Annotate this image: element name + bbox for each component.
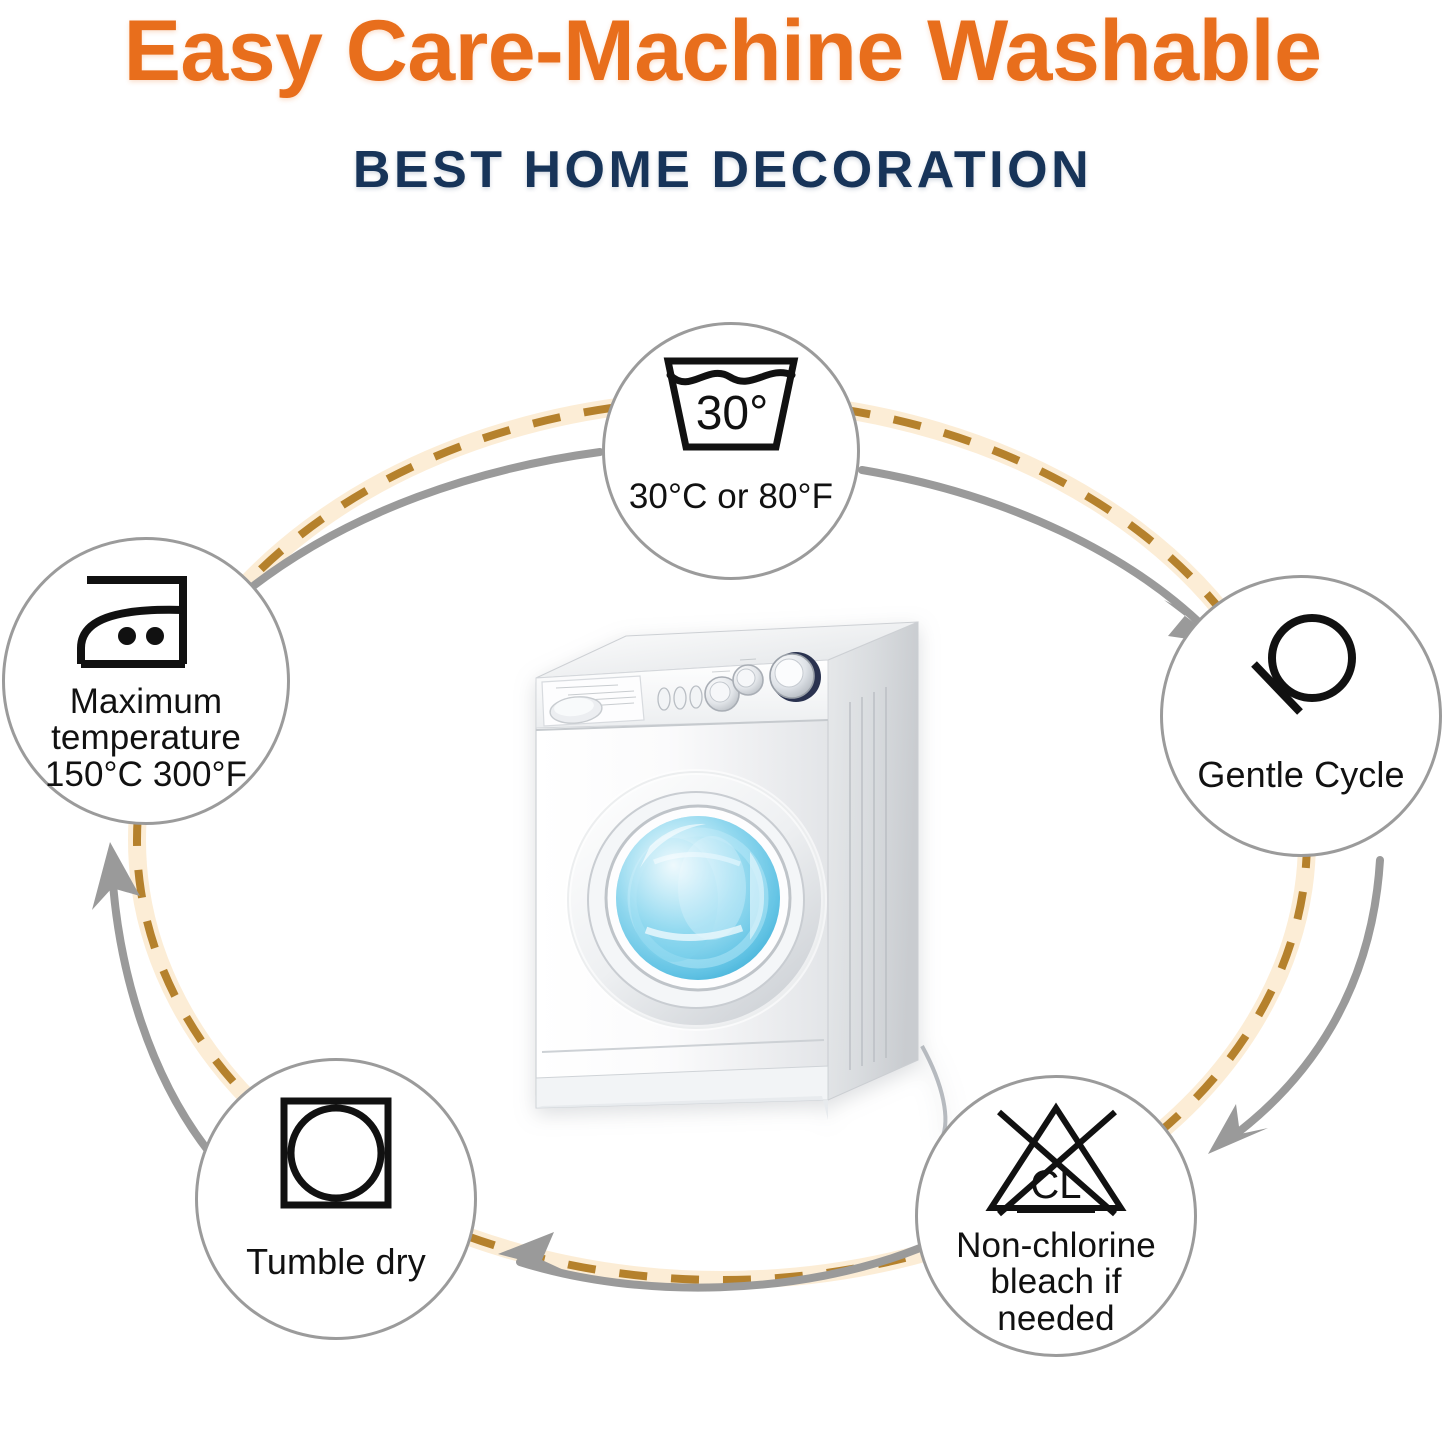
program-buttons [658, 686, 702, 710]
care-badge-bleach-label: Non-chlorine bleach if needed [956, 1228, 1156, 1337]
wash-tub-30-icon: 30° [656, 351, 806, 463]
detergent-drawer [542, 676, 644, 726]
wash-temp-value: 30° [696, 387, 769, 440]
care-badge-gentle[interactable]: Gentle Cycle [1160, 575, 1442, 857]
care-badge-tumble-label: Tumble dry [246, 1243, 426, 1280]
no-chlorine-bleach-icon: CL [981, 1098, 1131, 1224]
iron-two-dots-icon [71, 570, 221, 674]
tumble-dry-icon [276, 1093, 396, 1213]
washing-machine-illustration [498, 600, 968, 1140]
care-badge-tumble[interactable]: Tumble dry [195, 1058, 477, 1340]
product-infographic: Easy Care-Machine Washable BEST HOME DEC… [0, 0, 1445, 1445]
care-badge-iron-label: Maximum temperature 150°C 300°F [45, 684, 247, 793]
care-badge-wash-label: 30°C or 80°F [629, 479, 833, 515]
care-badge-iron[interactable]: Maximum temperature 150°C 300°F [2, 537, 290, 825]
bleach-cl-text: CL [1030, 1163, 1081, 1207]
care-badge-gentle-label: Gentle Cycle [1197, 756, 1404, 793]
care-badge-wash[interactable]: 30° 30°C or 80°F [602, 322, 860, 580]
gentle-cycle-icon [1236, 608, 1366, 730]
care-badge-bleach[interactable]: CL Non-chlorine bleach if needed [915, 1075, 1197, 1357]
